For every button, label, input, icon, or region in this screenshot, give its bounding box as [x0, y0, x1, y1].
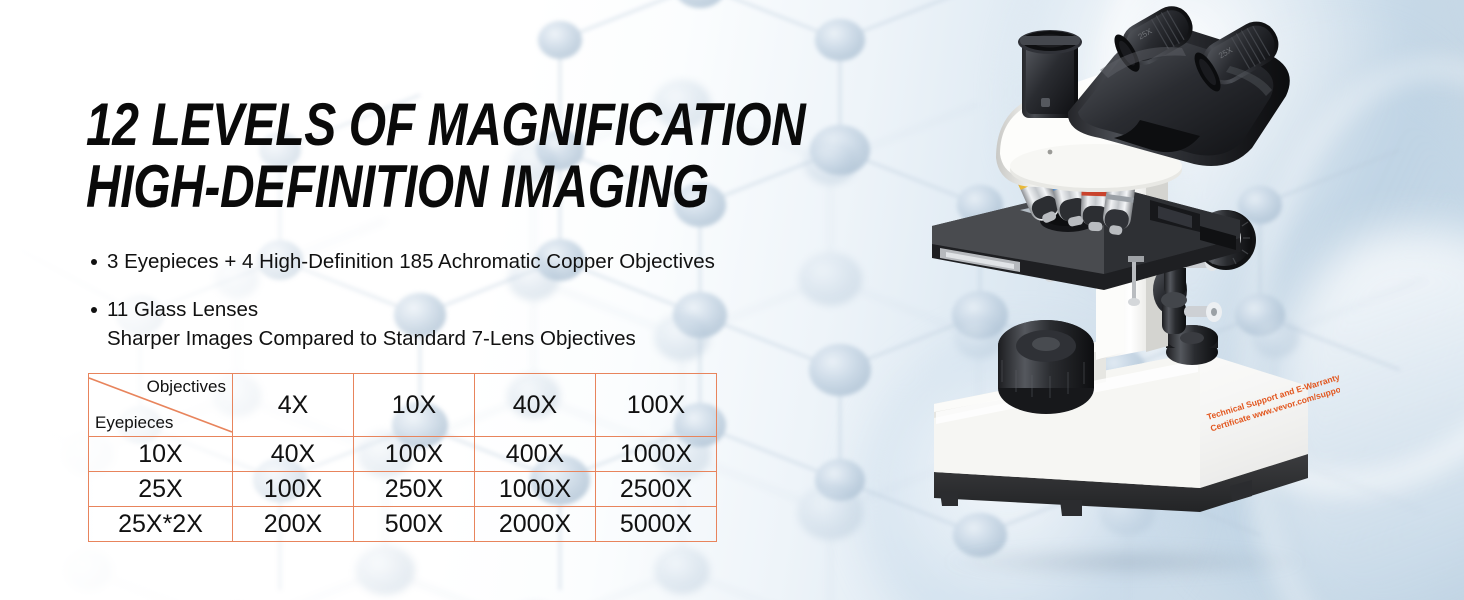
table-cell: 40X — [233, 437, 354, 472]
table-column-header: 10X — [354, 374, 475, 437]
table-row: 25X*2X 200X 500X 2000X 5000X — [89, 507, 717, 542]
table-row-header: 25X*2X — [89, 507, 233, 542]
product-banner: 12 LEVELS OF MAGNIFICATION HIGH-DEFINITI… — [0, 0, 1464, 600]
table-column-header: 4X — [233, 374, 354, 437]
table-row: 25X 100X 250X 1000X 2500X — [89, 472, 717, 507]
table-cell: 2000X — [475, 507, 596, 542]
table-header-row: Objectives Eyepieces 4X 10X 40X 100X — [89, 374, 717, 437]
table-corner-cell: Objectives Eyepieces — [89, 374, 233, 437]
table-cell: 2500X — [596, 472, 717, 507]
table-cell: 5000X — [596, 507, 717, 542]
table-row-header: 10X — [89, 437, 233, 472]
magnification-table: Objectives Eyepieces 4X 10X 40X 100X 10X… — [88, 373, 717, 542]
table-cell: 200X — [233, 507, 354, 542]
headline-line-1: 12 LEVELS OF MAGNIFICATION — [86, 94, 805, 156]
table-cell: 1000X — [596, 437, 717, 472]
table-cell: 100X — [233, 472, 354, 507]
feature-bullet-2-subtext: Sharper Images Compared to Standard 7-Le… — [90, 325, 715, 352]
headline-line-2: HIGH-DEFINITION IMAGING — [86, 156, 805, 218]
table-column-header: 100X — [596, 374, 717, 437]
table-corner-objectives-label: Objectives — [147, 377, 226, 397]
table-row-header: 25X — [89, 472, 233, 507]
microscope-product-image: Technical Support and E-Warranty Certifi… — [900, 0, 1340, 600]
feature-list: 3 Eyepieces + 4 High-Definition 185 Achr… — [90, 248, 715, 352]
table-row: 10X 40X 100X 400X 1000X — [89, 437, 717, 472]
table-corner-eyepieces-label: Eyepieces — [95, 413, 173, 433]
microscope-base: Technical Support and E-Warranty Certifi… — [934, 325, 1340, 516]
page-title: 12 LEVELS OF MAGNIFICATION HIGH-DEFINITI… — [86, 94, 805, 218]
table-column-header: 40X — [475, 374, 596, 437]
table-cell: 100X — [354, 437, 475, 472]
feature-bullet-1: 3 Eyepieces + 4 High-Definition 185 Achr… — [90, 248, 715, 275]
feature-bullet-2: 11 Glass Lenses — [90, 296, 715, 323]
table-cell: 400X — [475, 437, 596, 472]
coarse-focus-knob — [998, 320, 1094, 414]
table-cell: 1000X — [475, 472, 596, 507]
trinocular-port — [1018, 30, 1082, 118]
table-cell: 250X — [354, 472, 475, 507]
table-cell: 500X — [354, 507, 475, 542]
